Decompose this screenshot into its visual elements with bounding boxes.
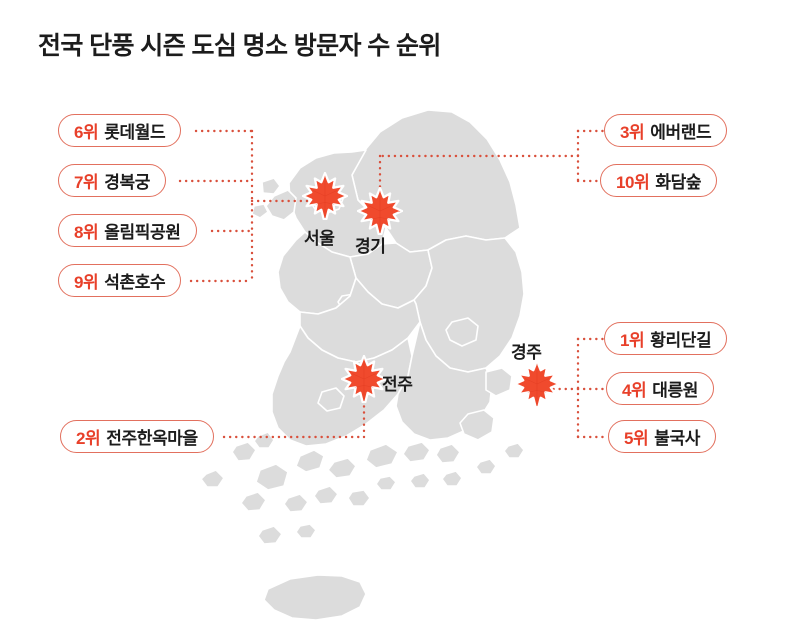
island-group-14 xyxy=(254,432,274,448)
seoul-marker[interactable] xyxy=(302,172,348,220)
island-group-7 xyxy=(241,492,266,511)
island-group-13 xyxy=(232,442,256,461)
place-label-8: 올림픽공원 xyxy=(104,218,180,243)
rank-pill-3[interactable]: 3위 에버랜드 xyxy=(604,114,727,147)
gyeonggi-marker[interactable] xyxy=(357,187,403,235)
korea-map xyxy=(0,0,800,637)
island-yeongjong xyxy=(252,204,268,218)
place-label-7: 경복궁 xyxy=(104,168,150,193)
island-group-6 xyxy=(436,444,460,463)
island-group-15 xyxy=(410,473,430,488)
island-jeju xyxy=(264,575,366,620)
maple-leaf-icon xyxy=(303,173,347,219)
gyeongju-marker[interactable] xyxy=(514,360,560,408)
rank-pill-4[interactable]: 4위 대릉원 xyxy=(606,372,714,405)
island-group-11 xyxy=(258,526,282,544)
infographic-canvas: 전국 단풍 시즌 도심 명소 방문자 수 순위 xyxy=(0,0,800,637)
island-ganghwa xyxy=(262,178,280,194)
rank-label-8: 8위 xyxy=(74,218,98,243)
island-group-20 xyxy=(201,470,224,487)
maple-leaf-icon xyxy=(342,356,386,402)
rank-label-5: 5위 xyxy=(624,424,648,449)
island-group-9 xyxy=(314,486,338,504)
island-group-1 xyxy=(296,450,324,472)
map-label-jeonju: 전주 xyxy=(382,370,412,395)
island-group-3 xyxy=(328,458,356,478)
island-group-2 xyxy=(256,464,288,490)
island-group-17 xyxy=(442,471,462,486)
rank-pill-1[interactable]: 1위 황리단길 xyxy=(604,322,727,355)
place-label-4: 대릉원 xyxy=(652,376,698,401)
rank-label-4: 4위 xyxy=(622,376,646,401)
rank-label-1: 1위 xyxy=(620,326,644,351)
island-group-10 xyxy=(348,490,370,506)
map-label-seoul: 서울 xyxy=(304,224,334,249)
place-label-5: 불국사 xyxy=(654,424,700,449)
island-group-12 xyxy=(296,524,316,538)
maple-leaf-icon xyxy=(358,188,402,234)
place-label-2: 전주한옥마을 xyxy=(106,424,197,449)
rank-pill-5[interactable]: 5위 불국사 xyxy=(608,420,716,453)
jeonju-marker[interactable] xyxy=(341,355,387,403)
rank-label-6: 6위 xyxy=(74,118,98,143)
rank-label-10: 10위 xyxy=(616,168,649,193)
place-label-3: 에버랜드 xyxy=(650,118,711,143)
island-group-8 xyxy=(284,494,308,512)
map-label-gyeongju: 경주 xyxy=(511,338,541,363)
rank-label-2: 2위 xyxy=(76,424,100,449)
city-ulsan xyxy=(486,368,512,396)
island-group-18 xyxy=(476,459,496,474)
island-group-5 xyxy=(403,442,430,462)
island-group-16 xyxy=(376,476,396,490)
rank-label-3: 3위 xyxy=(620,118,644,143)
rank-pill-9[interactable]: 9위 석촌호수 xyxy=(58,264,181,297)
rank-label-7: 7위 xyxy=(74,168,98,193)
island-group-19 xyxy=(504,443,524,458)
rank-pill-7[interactable]: 7위 경복궁 xyxy=(58,164,166,197)
place-label-9: 석촌호수 xyxy=(104,268,165,293)
maple-leaf-icon xyxy=(515,361,559,407)
rank-pill-10[interactable]: 10위 화담숲 xyxy=(600,164,717,197)
rank-pill-6[interactable]: 6위 롯데월드 xyxy=(58,114,181,147)
island-group-4 xyxy=(366,444,398,468)
place-label-1: 황리단길 xyxy=(650,326,711,351)
place-label-10: 화담숲 xyxy=(655,168,701,193)
rank-pill-8[interactable]: 8위 올림픽공원 xyxy=(58,214,197,247)
place-label-6: 롯데월드 xyxy=(104,118,165,143)
city-incheon xyxy=(266,190,296,220)
rank-pill-2[interactable]: 2위 전주한옥마을 xyxy=(60,420,214,453)
map-label-gyeonggi: 경기 xyxy=(355,232,385,257)
rank-label-9: 9위 xyxy=(74,268,98,293)
